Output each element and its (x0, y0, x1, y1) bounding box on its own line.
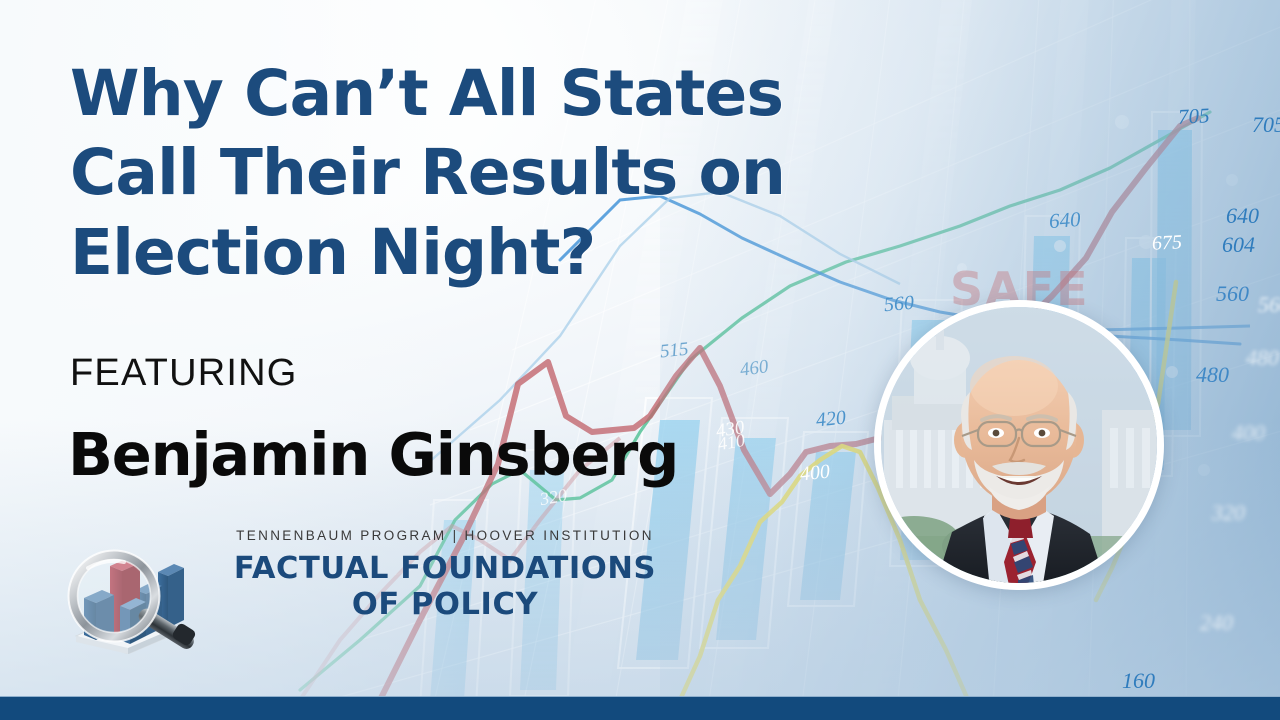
title-line-1: Why Can’t All States (70, 54, 910, 133)
axis-tick-560b: 560 (1258, 292, 1280, 318)
title-line-3: Election Night? (70, 213, 910, 292)
portrait-illustration (881, 307, 1157, 583)
chart-label-460: 460 (739, 356, 770, 382)
axis-tick-604: 604 (1222, 232, 1255, 258)
page-title: Why Can’t All States Call Their Results … (70, 54, 910, 292)
title-line-2: Call Their Results on (70, 133, 910, 212)
program-logo: TENNENBAUM PROGRAM | HOOVER INSTITUTION … (62, 528, 662, 658)
portrait-image (881, 307, 1157, 583)
axis-tick-320: 320 (1212, 500, 1245, 526)
bottom-accent-bar (0, 696, 1280, 720)
logo-kicker: TENNENBAUM PROGRAM | HOOVER INSTITUTION (210, 528, 680, 543)
chart-label-640: 640 (1048, 207, 1081, 234)
axis-tick-560: 560 (1216, 281, 1249, 307)
axis-tick-480b: 480 (1246, 345, 1279, 371)
chart-label-705: 705 (1177, 103, 1210, 130)
speaker-portrait (874, 300, 1164, 590)
speaker-name: Benjamin Ginsberg (68, 420, 678, 489)
axis-tick-240: 240 (1200, 610, 1233, 636)
axis-tick-480: 480 (1196, 362, 1229, 388)
axis-tick-640: 640 (1226, 203, 1259, 229)
logo-title-line-1: FACTUAL FOUNDATIONS (234, 551, 656, 586)
chart-label-400: 400 (799, 460, 831, 486)
magnifying-glass-bar-chart-icon (62, 536, 222, 654)
program-logo-text: TENNENBAUM PROGRAM | HOOVER INSTITUTION … (210, 528, 680, 622)
axis-tick-160: 160 (1122, 668, 1155, 694)
chart-label-515: 515 (659, 339, 690, 364)
axis-tick-705: 705 (1252, 112, 1280, 138)
chart-label-420: 420 (815, 406, 847, 432)
axis-tick-400: 400 (1232, 420, 1265, 446)
featuring-label: FEATURING (70, 352, 298, 395)
logo-title-line-2: OF POLICY (210, 587, 680, 623)
slide-canvas: SAFE 515 460 430 410 320 400 420 560 640… (0, 0, 1280, 720)
logo-title: FACTUAL FOUNDATIONS OF POLICY (210, 551, 680, 622)
chart-label-675: 675 (1151, 231, 1182, 256)
